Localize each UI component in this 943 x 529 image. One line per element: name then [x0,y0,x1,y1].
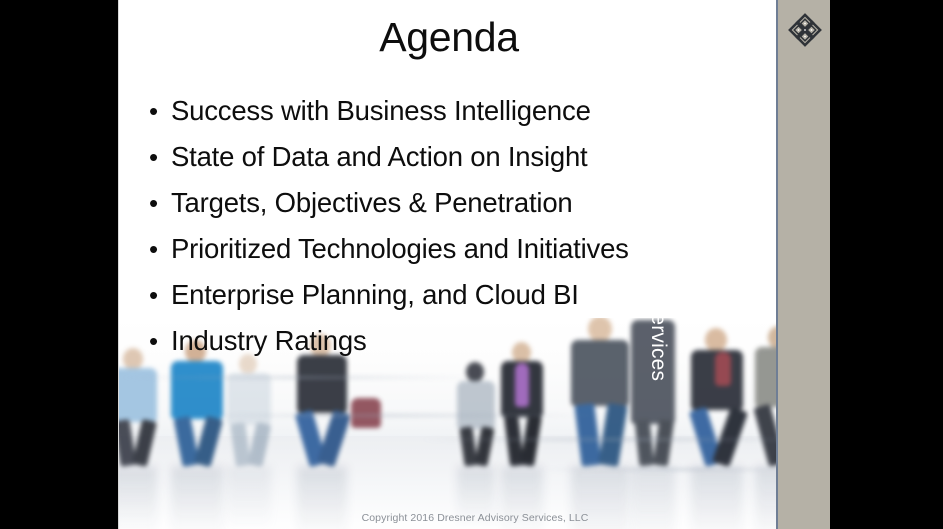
list-item: • Industry Ratings [149,324,789,370]
bullet-marker-icon: • [149,140,171,174]
list-item: • Targets, Objectives & Penetration [149,186,789,232]
bullet-marker-icon: • [149,186,171,220]
bullet-label: Enterprise Planning, and Cloud BI [171,278,579,312]
list-item: • Prioritized Technologies and Initiativ… [149,232,789,278]
slide-canvas: Agenda • Success with Business Intellige… [118,0,830,529]
bullet-marker-icon: • [149,324,171,358]
bullet-marker-icon: • [149,278,171,312]
copyright-text: Copyright 2016 Dresner Advisory Services… [119,512,830,524]
photo-figure [227,354,271,466]
slide-title: Agenda [119,14,779,61]
motion-streak [179,414,599,417]
motion-streak [119,376,479,379]
brand-company-name: Dresner Advisory Services [655,130,831,160]
letterbox-right [830,0,943,529]
endless-knot-logo-icon [787,12,823,48]
bullet-label: Targets, Objectives & Penetration [171,186,573,220]
photo-figure [351,390,381,432]
bullet-label: Success with Business Intelligence [171,94,591,128]
bullet-label: State of Data and Action on Insight [171,140,587,174]
brand-company-label: Dresner Advisory Services [646,130,670,381]
bullet-label: Prioritized Technologies and Initiatives [171,232,629,266]
bullet-marker-icon: • [149,232,171,266]
list-item: • Enterprise Planning, and Cloud BI [149,278,789,324]
brand-sidebar: Dresner Advisory Services [776,0,830,529]
letterbox-left [0,0,118,529]
motion-streak [419,438,830,441]
presentation-viewer: Agenda • Success with Business Intellige… [0,0,943,529]
bullet-label: Industry Ratings [171,324,367,358]
bullet-marker-icon: • [149,94,171,128]
